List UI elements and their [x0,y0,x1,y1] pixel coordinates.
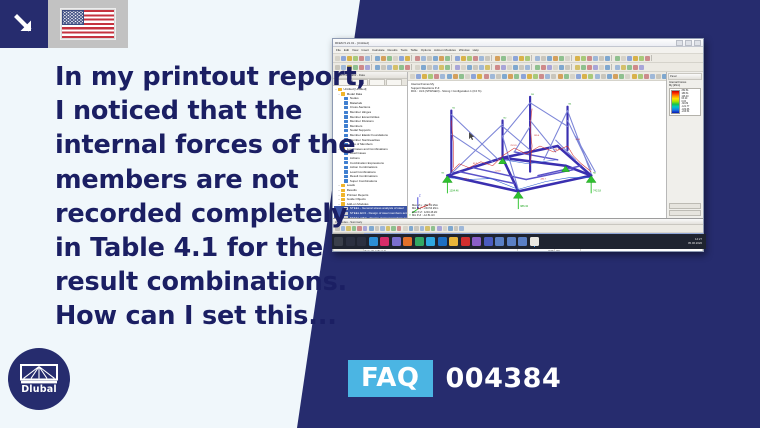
toolbar-separator [371,55,374,61]
arrow-down-right-icon [11,11,37,37]
toolbar-button-icon[interactable] [553,65,558,70]
menu-item-calculate[interactable]: Calculate [372,48,385,52]
toolbar-button-icon[interactable] [414,226,419,231]
tree-node-icon [344,97,348,100]
question-text: In my printout report,I noticed that the… [55,60,330,334]
svg-text:N3: N3 [531,94,535,96]
svg-text:126.4: 126.4 [554,149,560,151]
toolbar-button-icon[interactable] [582,74,587,79]
taskbar-clock[interactable]: 14:27 05.06.2020 [688,238,704,245]
toolbar-button-icon[interactable] [421,56,426,61]
toolbar-button-icon[interactable] [440,74,445,79]
toolbar-button-icon[interactable] [599,65,604,70]
navigator-tab-views[interactable] [369,79,385,85]
windows-taskbar[interactable]: 14:27 05.06.2020 [332,234,706,249]
table-cell[interactable] [581,249,703,252]
question-line-2: I noticed that the [55,94,330,128]
toolbar-button-icon[interactable] [605,65,610,70]
toolbar-button-icon[interactable] [375,65,380,70]
close-icon[interactable] [694,40,701,46]
us-flag-icon [61,9,115,39]
toolbar-button-icon[interactable] [341,56,346,61]
toolbar-button-icon[interactable] [575,56,580,61]
toolbar-button-icon[interactable] [638,74,643,79]
viewport-stats-text: Max M-y : 252.81 kNmMin M-y : -243.54 kN… [412,204,438,217]
legend-values-button[interactable] [669,210,701,216]
svg-text:N1: N1 [452,108,456,110]
question-line-4: members are not [55,163,330,197]
table-cell[interactable]: Sum of Loads in X [363,249,518,252]
toolbar-button-icon[interactable] [621,56,626,61]
viewport-stat-line: Min P-Z : -12.51 kN [412,214,438,217]
menu-item-insert[interactable]: Insert [361,48,369,52]
toolbar-button-icon[interactable] [391,226,396,231]
toolbar-button-icon[interactable] [607,74,612,79]
toolbar-button-icon[interactable] [409,226,414,231]
svg-text:N4: N4 [569,104,573,106]
svg-text:N5: N5 [441,173,445,175]
dlubal-frame-icon [20,364,58,384]
toolbar-button-icon[interactable] [381,65,386,70]
faq-tag: FAQ [348,360,433,397]
toolbar-button-icon[interactable] [477,74,482,79]
secondary-toolbar[interactable] [333,63,703,72]
toolbar-button-icon[interactable] [565,65,570,70]
app-body: Project Navigator - Data −Untitled [Unti… [333,72,703,218]
media-player-icon[interactable] [472,237,481,246]
toolbar-button-icon[interactable] [445,56,450,61]
toolbar-button-icon[interactable] [415,56,420,61]
toolbar-button-icon[interactable] [633,65,638,70]
row-number-cell [334,249,364,252]
maximize-icon[interactable] [685,40,692,46]
toolbar-button-icon[interactable] [513,56,518,61]
toolbar-button-icon[interactable] [615,56,620,61]
toolbar-button-icon[interactable] [639,56,644,61]
dlubal-logo[interactable]: Dlubal [8,348,70,410]
toolbar-button-icon[interactable] [525,65,530,70]
start-button[interactable] [334,237,343,246]
svg-text:1204.46: 1204.46 [449,188,459,192]
table-row[interactable]: Sum of Loads in X0.00kN [334,249,703,252]
toolbar-button-icon[interactable] [363,226,368,231]
svg-text:-121.8: -121.8 [495,171,502,173]
support-symbols: 1204.46 986.32 742.18 [442,158,601,209]
toolbar-button-icon[interactable] [352,226,357,231]
legend-color-scale: 252.81189.61126.4063.200.00-60.89-121.77… [669,88,701,115]
menu-item-table[interactable]: Table [411,48,418,52]
toolbar-separator [571,64,574,70]
svg-text:N2: N2 [504,117,508,119]
question-line-3: internal forces of the [55,128,330,162]
toolbar-separator [611,55,614,61]
toolbar-button-icon[interactable] [613,74,618,79]
toolbar-button-icon[interactable] [507,65,512,70]
skype-app-icon[interactable] [426,237,435,246]
app-title-bar: RFEM 5.21.01 - [Untitled] [333,39,703,47]
question-line-7: result combinations. [55,265,330,299]
rfem-application-window: RFEM 5.21.01 - [Untitled] FileEditViewIn… [332,38,704,252]
active-rfem-window[interactable] [530,237,539,246]
toolbar-button-icon[interactable] [501,56,506,61]
toolbar-button-icon[interactable] [455,56,460,61]
task-view-icon[interactable] [357,237,366,246]
svg-text:Z: Z [419,193,421,197]
outlook-app-icon[interactable] [438,237,447,246]
toolbar-button-icon[interactable] [399,56,404,61]
toolbar-button-icon[interactable] [485,65,490,70]
question-line-5: recorded completely [55,197,330,231]
toolbar-button-icon[interactable] [621,65,626,70]
toolbar-button-icon[interactable] [380,226,385,231]
toolbar-button-icon[interactable] [479,56,484,61]
toolbar-button-icon[interactable] [501,65,506,70]
toolbar-separator [371,64,374,70]
toolbar-button-icon[interactable] [627,56,632,61]
tree-node-icon [344,161,348,164]
toolbar-button-icon[interactable] [632,74,637,79]
toolbar-separator [571,55,574,61]
toolbar-button-icon[interactable] [507,56,512,61]
tree-node-icon [344,111,348,114]
toolbar-button-icon[interactable] [387,56,392,61]
toolbar-button-icon[interactable] [595,74,600,79]
toolbar-button-icon[interactable] [513,65,518,70]
menu-item-help[interactable]: Help [473,48,479,52]
toolbar-button-icon[interactable] [521,74,526,79]
toolbar-button-icon[interactable] [431,226,436,231]
menu-item-file[interactable]: File [336,48,341,52]
toolbar-separator [451,55,454,61]
toolbar-button-icon[interactable] [425,226,430,231]
toolbar-button-icon[interactable] [467,65,472,70]
toolbar-button-icon[interactable] [386,226,391,231]
toolbar-button-icon[interactable] [519,65,524,70]
toolbar-button-icon[interactable] [559,65,564,70]
table-toolbar[interactable] [333,225,703,233]
tree-node-icon [344,175,348,178]
toolbar-button-icon[interactable] [558,74,563,79]
toolbar-button-icon[interactable] [427,65,432,70]
toolbar-separator [411,64,414,70]
window-controls[interactable] [676,40,701,46]
toolbar-button-icon[interactable] [347,56,352,61]
tree-node-icon [344,115,348,118]
svg-text:N6: N6 [593,173,597,175]
toolbar-button-icon[interactable] [437,226,442,231]
toolbar-button-icon[interactable] [421,65,426,70]
toolbar-button-icon[interactable] [359,56,364,61]
toolbar-button-icon[interactable] [459,74,464,79]
toolbar-button-icon[interactable] [461,65,466,70]
toolbar-button-icon[interactable] [662,74,666,79]
toolbar-button-icon[interactable] [565,56,570,61]
legend-title: Internal ForcesMy [kNm] [668,80,702,87]
toolbar-button-icon[interactable] [428,74,433,79]
toolbar-button-icon[interactable] [369,226,374,231]
toolbar-button-icon[interactable] [496,74,501,79]
toolbar-button-icon[interactable] [353,56,358,61]
svg-text:189.6: 189.6 [534,135,540,137]
edge-browser-icon[interactable] [369,237,378,246]
legend-gradient-bar [671,90,680,113]
toolbar-button-icon[interactable] [447,74,452,79]
rwind-app-icon[interactable] [518,237,527,246]
legend-value-list: 252.81189.61126.4063.200.00-60.89-121.77… [680,90,699,113]
toolbar-button-icon[interactable] [541,56,546,61]
toolbar-button-icon[interactable] [502,74,507,79]
toolbar-button-icon[interactable] [547,65,552,70]
settings-app-icon[interactable] [392,237,401,246]
question-line-6: in Table 4.1 for the [55,231,330,265]
menu-item-tools[interactable]: Tools [401,48,408,52]
toolbar-button-icon[interactable] [650,74,655,79]
tree-node-icon [344,170,348,173]
toolbar-button-icon[interactable] [519,56,524,61]
app-menu-bar[interactable]: FileEditViewInsertCalculateResultsToolsT… [333,47,703,54]
toolbar-button-icon[interactable] [587,56,592,61]
tree-node-icon [344,120,348,123]
toolbar-button-icon[interactable] [443,226,448,231]
toolbar-button-icon[interactable] [588,74,593,79]
toolbar-button-icon[interactable] [397,226,402,231]
table-cell[interactable]: kN [555,249,581,252]
flag-stars [63,11,83,24]
tree-node-icon [341,189,345,192]
toolbar-button-icon[interactable] [422,74,427,79]
table-cell[interactable]: 0.00 [518,249,555,252]
toolbar-button-icon[interactable] [627,65,632,70]
toolbar-button-icon[interactable] [490,74,495,79]
file-explorer-icon[interactable] [449,237,458,246]
menu-item-results[interactable]: Results [388,48,398,52]
rstab-app-icon[interactable] [507,237,516,246]
toolbar-button-icon[interactable] [599,56,604,61]
toolbar-button-icon[interactable] [593,65,598,70]
tree-node-icon [344,101,348,104]
toolbar-button-icon[interactable] [416,74,421,79]
toolbar-button-icon[interactable] [553,56,558,61]
toolbar-button-icon[interactable] [405,65,410,70]
toolbar-button-icon[interactable] [559,56,564,61]
tree-node-icon [344,166,348,169]
toolbar-button-icon[interactable] [399,65,404,70]
svg-text:-182.7: -182.7 [540,179,547,181]
toolbar-button-icon[interactable] [375,226,380,231]
menu-item-window[interactable]: Window [459,48,470,52]
toolbar-button-icon[interactable] [479,65,484,70]
chrome-browser-icon[interactable] [403,237,412,246]
model-viewport[interactable]: Internal Forces MySupport Reactions P-ZR… [408,72,666,218]
toolbar-button-icon[interactable] [433,65,438,70]
svg-text:742.18: 742.18 [593,188,601,192]
toolbar-button-icon[interactable] [535,65,540,70]
toolbar-button-icon[interactable] [581,65,586,70]
toolbar-separator [651,55,654,61]
toolbar-separator [491,55,494,61]
toolbar-button-icon[interactable] [434,74,439,79]
toolbar-button-icon[interactable] [461,56,466,61]
toolbar-button-icon[interactable] [453,74,458,79]
svg-text:986.32: 986.32 [520,204,528,208]
legend-header: Panel [668,73,702,80]
toolbar-button-icon[interactable] [605,56,610,61]
menu-item-add-on-modules[interactable]: Add-on Modules [434,48,456,52]
toolbar-button-icon[interactable] [387,65,392,70]
tree-node-icon [344,179,348,182]
app-title-text: RFEM 5.21.01 - [Untitled] [335,41,369,45]
main-toolbar[interactable] [333,54,703,63]
toolbar-button-icon[interactable] [645,56,650,61]
toolbar-button-icon[interactable] [473,65,478,70]
toolbar-button-icon[interactable] [403,226,408,231]
toolbar-button-icon[interactable] [656,74,661,79]
faq-strip: FAQ 004384 [348,360,561,397]
toolbar-button-icon[interactable] [570,74,575,79]
toolbar-button-icon[interactable] [467,56,472,61]
toolbar-button-icon[interactable] [455,65,460,70]
tree-node-icon [344,106,348,109]
results-legend-panel[interactable]: Panel Internal ForcesMy [kNm] 252.81189.… [666,72,703,218]
toolbar-button-icon[interactable] [473,56,478,61]
toolbar-button-icon[interactable] [405,56,410,61]
question-line-1: In my printout report, [55,60,330,94]
toolbar-button-icon[interactable] [527,74,532,79]
toolbar-separator [531,64,534,70]
toolbar-button-icon[interactable] [433,56,438,61]
toolbar-separator [411,55,414,61]
toolbar-separator [531,55,534,61]
toolbar-button-icon[interactable] [445,65,450,70]
toolbar-button-icon[interactable] [615,65,620,70]
toolbar-button-icon[interactable] [625,74,630,79]
direction-badge[interactable] [0,0,48,48]
toolbar-button-icon[interactable] [564,74,569,79]
toolbar-button-icon[interactable] [495,65,500,70]
toolbar-button-icon[interactable] [581,56,586,61]
toolbar-button-icon[interactable] [547,56,552,61]
dlubal-logo-text: Dlubal [21,385,57,395]
svg-text:-243.5: -243.5 [463,179,470,181]
legend-footer-buttons[interactable] [668,202,702,217]
teams-app-icon[interactable] [484,237,493,246]
toolbar-button-icon[interactable] [633,56,638,61]
toolbar-button-icon[interactable] [495,56,500,61]
toolbar-button-icon[interactable] [619,74,624,79]
svg-text:-60.9: -60.9 [575,139,581,141]
faq-number: 004384 [446,365,562,392]
toolbar-button-icon[interactable] [551,74,556,79]
toolbar-separator [611,64,614,70]
toolbar-separator [491,64,494,70]
toolbar-button-icon[interactable] [410,74,415,79]
navigator-tab-results[interactable] [386,79,402,85]
menu-item-edit[interactable]: Edit [344,48,349,52]
tree-node-icon [341,92,345,95]
toolbar-button-icon[interactable] [471,74,476,79]
language-badge[interactable] [48,0,128,48]
svg-text:252.81: 252.81 [510,145,517,147]
toolbar-button-icon[interactable] [335,56,340,61]
toolbar-button-icon[interactable] [587,65,592,70]
tree-node-icon [341,184,345,187]
rfem-app-icon[interactable] [495,237,504,246]
search-icon[interactable] [346,237,355,246]
legend-title-line: My [kNm] [669,84,701,87]
toolbar-button-icon[interactable] [439,56,444,61]
toolbar-button-icon[interactable] [535,56,540,61]
legend-factor-button[interactable] [669,203,701,209]
toolbar-button-icon[interactable] [415,65,420,70]
toolbar-button-icon[interactable] [465,74,470,79]
menu-item-view[interactable]: View [352,48,358,52]
tree-node-icon [344,124,348,127]
toolbar-button-icon[interactable] [420,226,425,231]
tree-node-label: STEEL AISC - Design of steel members acc… [350,216,407,218]
toolbar-button-icon[interactable] [539,74,544,79]
toolbar-button-icon[interactable] [514,74,519,79]
toolbar-button-icon[interactable] [393,56,398,61]
toolbar-button-icon[interactable] [593,56,598,61]
toolbar-button-icon[interactable] [427,56,432,61]
toolbar-button-icon[interactable] [454,226,459,231]
legend-value: -243.54 [682,111,700,114]
toolbar-button-icon[interactable] [484,74,489,79]
toolbar-button-icon[interactable] [357,226,362,231]
toolbar-button-icon[interactable] [575,65,580,70]
toolbar-separator [451,64,454,70]
toolbar-button-icon[interactable] [545,74,550,79]
toolbar-button-icon[interactable] [365,56,370,61]
menu-item-options[interactable]: Options [421,48,431,52]
toolbar-button-icon[interactable] [508,74,513,79]
question-line-8: How can I set this... [55,299,330,333]
toolbar-button-icon[interactable] [601,74,606,79]
tree-node-icon [341,193,345,196]
toolbar-button-icon[interactable] [541,65,546,70]
pdf-reader-icon[interactable] [461,237,470,246]
slide-canvas: RFEM 5.21.01 - [Untitled] FileEditViewIn… [0,0,760,428]
toolbar-button-icon[interactable] [485,56,490,61]
toolbar-button-icon[interactable] [375,56,380,61]
flag-canton [62,10,84,25]
toolbar-button-icon[interactable] [381,56,386,61]
structural-model-3d[interactable]: 1204.46 986.32 742.18 N1N2 N3N4 N5N6 252… [408,80,666,218]
toolbar-button-icon[interactable] [393,65,398,70]
toolbar-button-icon[interactable] [533,74,538,79]
toolbar-button-icon[interactable] [576,74,581,79]
toolbar-button-icon[interactable] [459,226,464,231]
excel-app-icon[interactable] [415,237,424,246]
toolbar-button-icon[interactable] [525,56,530,61]
minimize-icon[interactable] [676,40,683,46]
mail-app-icon[interactable] [380,237,389,246]
toolbar-button-icon[interactable] [639,65,644,70]
toolbar-button-icon[interactable] [644,74,649,79]
legend-header-text: Panel [670,75,677,78]
toolbar-button-icon[interactable] [448,226,453,231]
svg-text:Y: Y [409,213,411,217]
toolbar-button-icon[interactable] [439,65,444,70]
clock-date: 05.06.2020 [688,242,702,245]
